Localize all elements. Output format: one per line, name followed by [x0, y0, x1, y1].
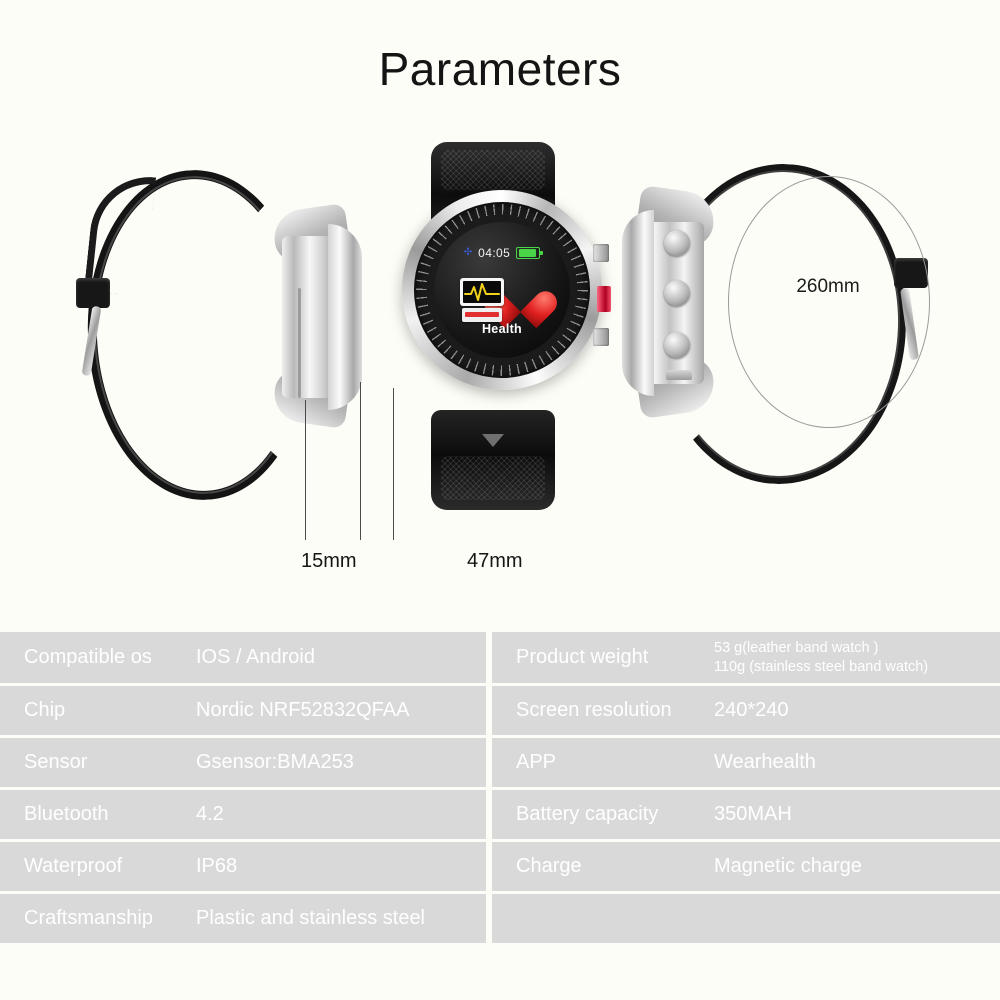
- spec-value: Nordic NRF52832QFAA: [196, 699, 486, 723]
- spec-value: IP68: [196, 855, 486, 879]
- table-row: APP Wearhealth: [492, 738, 1000, 787]
- watch-button-top[interactable]: [593, 244, 609, 262]
- case-diameter-label: 47mm: [467, 550, 523, 573]
- watch-case-side-right: [620, 194, 720, 410]
- watch-case-side: [268, 210, 364, 424]
- spec-key: Charge: [492, 855, 714, 878]
- table-row: Battery capacity 350MAH: [492, 790, 1000, 839]
- spec-value: Gsensor:BMA253: [196, 751, 486, 775]
- watch-crown-red[interactable]: [597, 286, 611, 312]
- monitor-bezel: [460, 278, 504, 306]
- battery-icon: [516, 247, 540, 259]
- monitor-red-bar: [465, 312, 499, 317]
- band-length-label: 260mm: [728, 276, 928, 298]
- bluetooth-icon: ✣: [464, 248, 472, 258]
- table-row: Charge Magnetic charge: [492, 842, 1000, 891]
- leader-line-band-width-right: [360, 382, 361, 540]
- watch-pusher-middle[interactable]: [664, 280, 690, 306]
- band-length-outline: [728, 176, 930, 428]
- spec-value: 4.2: [196, 803, 486, 827]
- watch-front-view: ✣ 04:05: [395, 142, 610, 522]
- watch-case-seam: [298, 288, 301, 398]
- spec-value: Plastic and stainless steel: [196, 907, 486, 931]
- spec-value: Wearhealth: [714, 751, 1000, 775]
- table-row: Screen resolution 240*240: [492, 686, 1000, 735]
- spec-value: Magnetic charge: [714, 855, 1000, 879]
- spec-key: Compatible os: [0, 646, 196, 669]
- spec-key: Battery capacity: [492, 803, 714, 826]
- leader-line-case-diameter: [393, 388, 394, 540]
- heart-ecg-monitor-icon: [460, 274, 544, 328]
- watch-status-bar: ✣ 04:05: [434, 246, 570, 260]
- watch-screen[interactable]: ✣ 04:05: [434, 222, 570, 358]
- spec-key: Craftsmanship: [0, 907, 196, 930]
- watch-case-rim: [328, 224, 362, 410]
- watch-pusher-top[interactable]: [664, 230, 690, 256]
- spec-table-right-column: Product weight 53 g(leather band watch )…: [492, 632, 1000, 944]
- watch-pusher-bottom[interactable]: [664, 332, 690, 358]
- spec-key: Waterproof: [0, 855, 196, 878]
- band-width-label: 15mm: [301, 550, 357, 573]
- monitor-display: [463, 281, 501, 303]
- leather-band-watch-view: [60, 150, 400, 550]
- spec-value: IOS / Android: [196, 646, 486, 670]
- spec-key: Chip: [0, 699, 196, 722]
- spec-key: Screen resolution: [492, 699, 714, 722]
- table-row: Bluetooth 4.2: [0, 790, 486, 839]
- watch-bezel: ✣ 04:05: [402, 190, 602, 390]
- watch-charging-port: [666, 370, 692, 380]
- table-row: Sensor Gsensor:BMA253: [0, 738, 486, 787]
- table-row: Chip Nordic NRF52832QFAA: [0, 686, 486, 735]
- watch-app-label: Health: [434, 322, 570, 336]
- specification-table: Compatible os IOS / Android Chip Nordic …: [0, 632, 1000, 944]
- spec-key: Sensor: [0, 751, 196, 774]
- spec-key: APP: [492, 751, 714, 774]
- table-row: Product weight 53 g(leather band watch )…: [492, 632, 1000, 683]
- table-row: Craftsmanship Plastic and stainless stee…: [0, 894, 486, 943]
- spec-key: Product weight: [492, 646, 714, 669]
- table-row: Compatible os IOS / Android: [0, 632, 486, 683]
- steel-band-watch-view: 260mm: [620, 142, 950, 542]
- spec-table-left-column: Compatible os IOS / Android Chip Nordic …: [0, 632, 486, 944]
- leader-line-band-width-left: [305, 400, 306, 540]
- table-row-empty: [492, 894, 1000, 943]
- strap-chevron-down-icon: [482, 434, 504, 447]
- product-spec-page: Parameters: [0, 0, 1000, 1000]
- page-title: Parameters: [0, 42, 1000, 96]
- watch-clock: 04:05: [478, 246, 510, 260]
- spec-value: 53 g(leather band watch ) 110g (stainles…: [714, 639, 1000, 676]
- silicone-strap-bottom: [431, 410, 555, 510]
- ecg-monitor-icon: [460, 278, 506, 324]
- spec-key: Bluetooth: [0, 803, 196, 826]
- watch-button-bottom[interactable]: [593, 328, 609, 346]
- table-row: Waterproof IP68: [0, 842, 486, 891]
- band-keeper-loop: [76, 278, 110, 308]
- spec-value: 240*240: [714, 699, 1000, 723]
- product-hero-images: ✣ 04:05: [0, 120, 1000, 620]
- watch-case-rim-right: [622, 210, 654, 396]
- ecg-waveform-icon: [463, 281, 501, 303]
- spec-value: 350MAH: [714, 803, 1000, 827]
